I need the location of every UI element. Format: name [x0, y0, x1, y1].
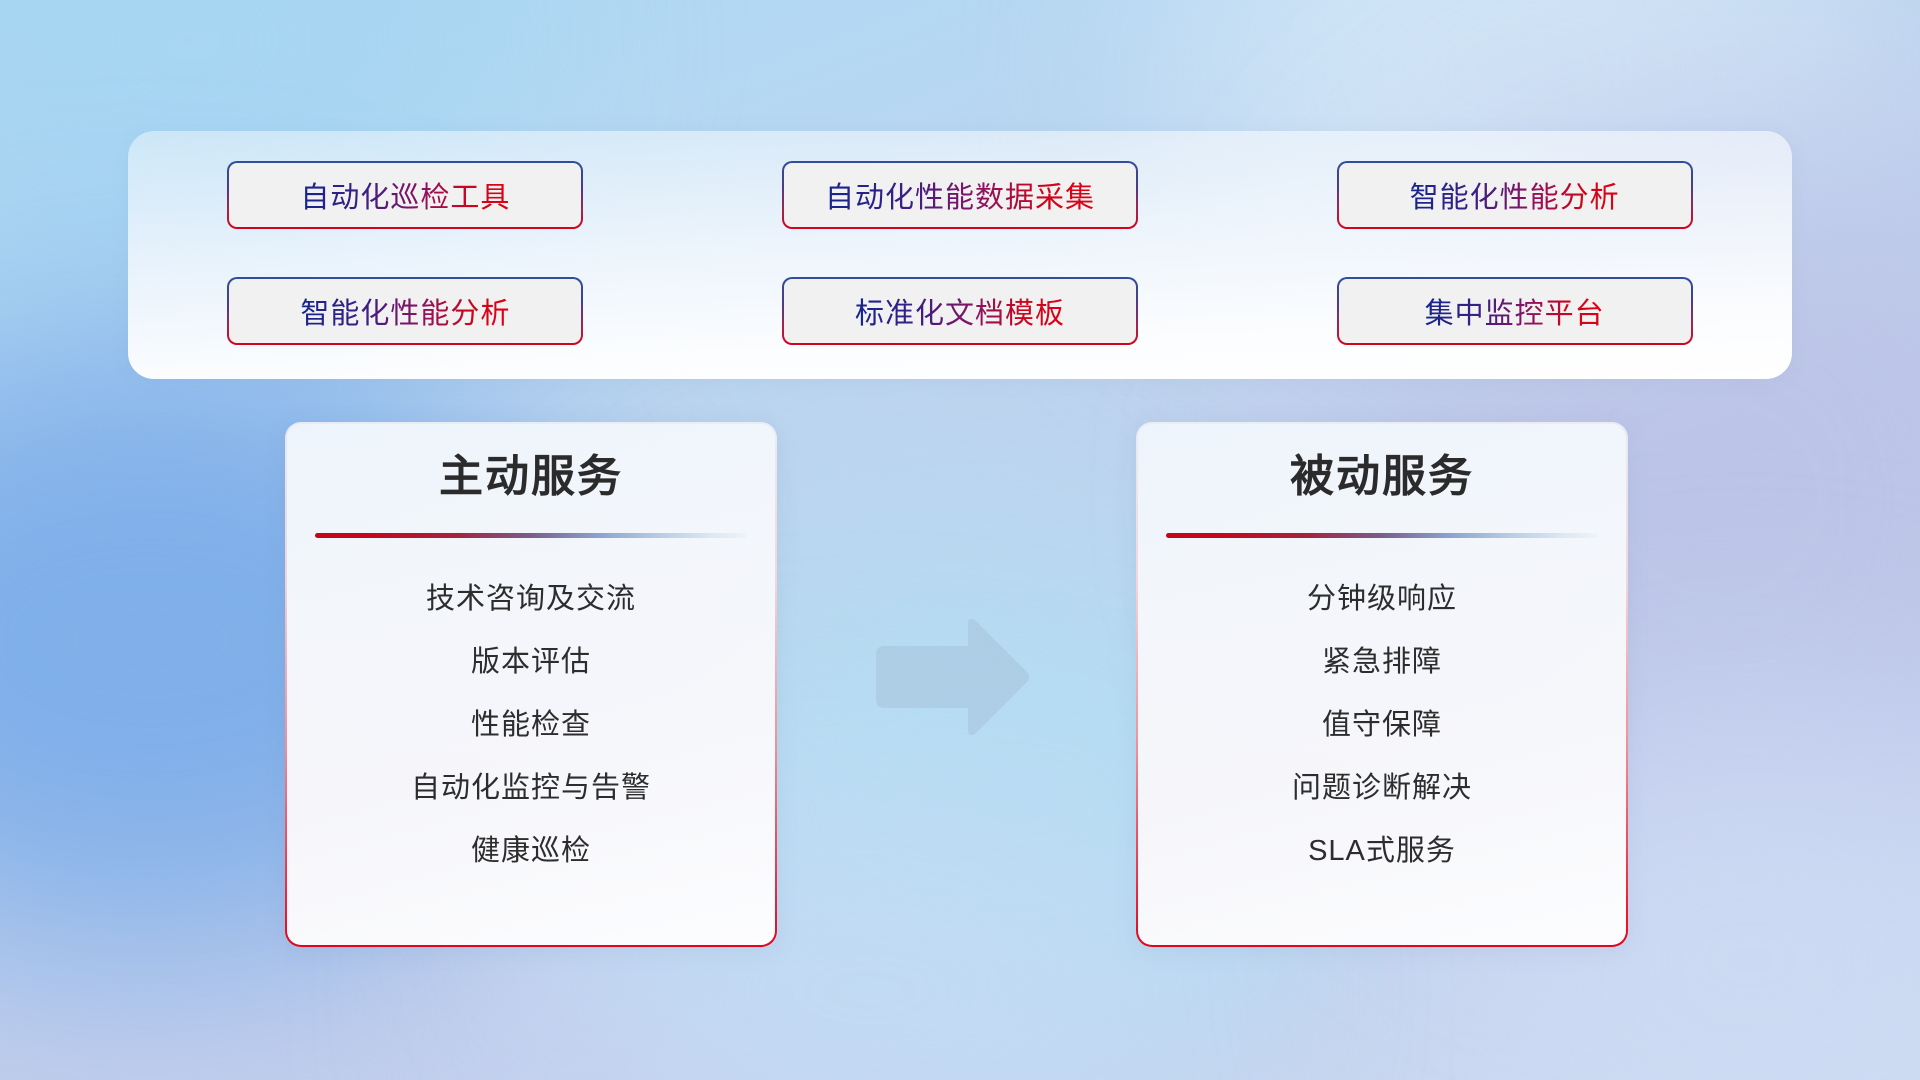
capability-tag[interactable]: 智能化性能分析 [1337, 161, 1693, 229]
capability-tag[interactable]: 智能化性能分析 [227, 277, 583, 345]
list-item: 问题诊断解决 [1138, 757, 1626, 820]
slide-canvas: 自动化巡检工具 自动化性能数据采集 智能化性能分析 智能化性能分析 标准化文档模… [0, 0, 1920, 1080]
capability-tag-label: 智能化性能分析 [1410, 174, 1620, 216]
capability-tag[interactable]: 标准化文档模板 [782, 277, 1138, 345]
list-item: 分钟级响应 [1138, 568, 1626, 631]
list-item: 紧急排障 [1138, 631, 1626, 694]
service-card-divider [315, 533, 747, 538]
list-item: 性能检查 [287, 694, 775, 757]
service-card-passive[interactable]: 被动服务 分钟级响应 紧急排障 值守保障 问题诊断解决 SLA式服务 [1136, 422, 1628, 947]
capability-tag[interactable]: 自动化性能数据采集 [782, 161, 1138, 229]
service-card-divider [1166, 533, 1598, 538]
list-item: 技术咨询及交流 [287, 568, 775, 631]
service-card-active[interactable]: 主动服务 技术咨询及交流 版本评估 性能检查 自动化监控与告警 健康巡检 [285, 422, 777, 947]
list-item: SLA式服务 [1138, 820, 1626, 883]
list-item: 自动化监控与告警 [287, 757, 775, 820]
list-item: 值守保障 [1138, 694, 1626, 757]
list-item: 版本评估 [287, 631, 775, 694]
capability-tag-label: 自动化性能数据采集 [825, 174, 1095, 216]
service-card-list: 分钟级响应 紧急排障 值守保障 问题诊断解决 SLA式服务 [1138, 568, 1626, 883]
capability-tag-panel: 自动化巡检工具 自动化性能数据采集 智能化性能分析 智能化性能分析 标准化文档模… [128, 131, 1792, 379]
capability-tag-label: 智能化性能分析 [300, 290, 510, 332]
capability-tag[interactable]: 自动化巡检工具 [227, 161, 583, 229]
capability-tag-label: 自动化巡检工具 [300, 174, 510, 216]
right-arrow-icon [872, 615, 1032, 740]
list-item: 健康巡检 [287, 820, 775, 883]
capability-tag-label: 标准化文档模板 [855, 290, 1065, 332]
service-card-title: 主动服务 [287, 455, 775, 499]
service-card-title: 被动服务 [1138, 455, 1626, 499]
capability-tag[interactable]: 集中监控平台 [1337, 277, 1693, 345]
service-card-list: 技术咨询及交流 版本评估 性能检查 自动化监控与告警 健康巡检 [287, 568, 775, 883]
capability-tag-label: 集中监控平台 [1425, 290, 1605, 332]
